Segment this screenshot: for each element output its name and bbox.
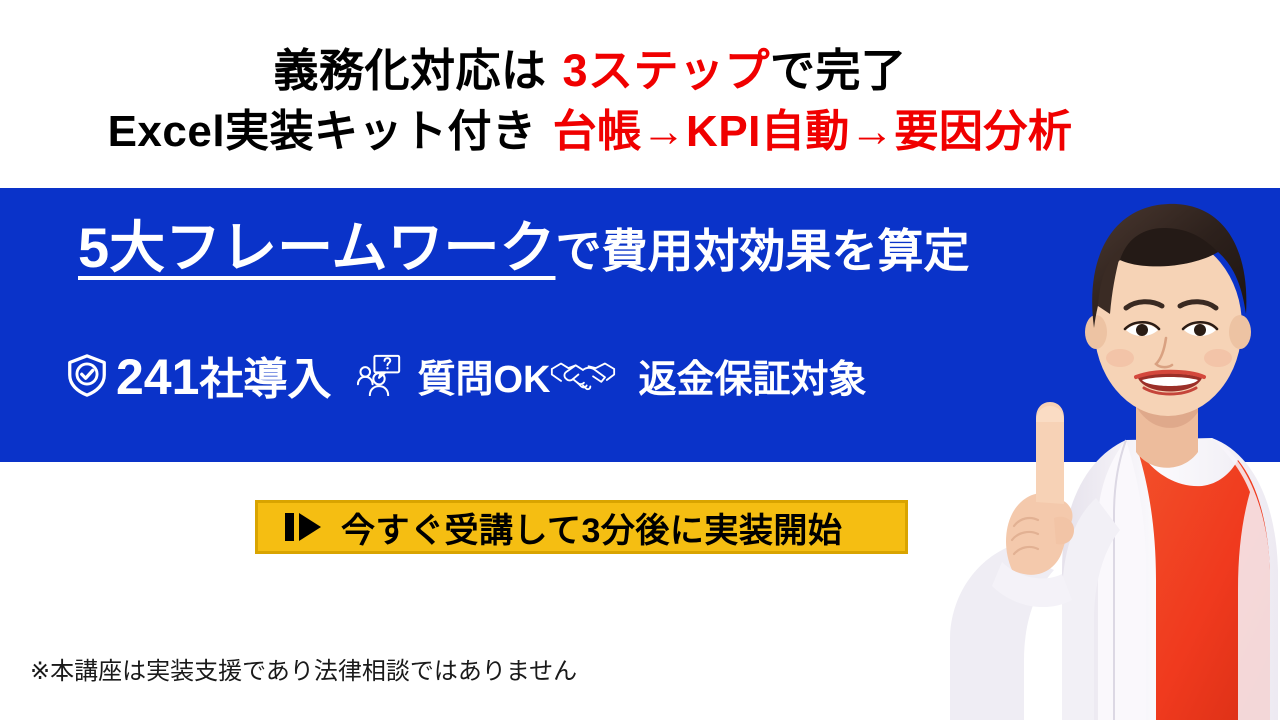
badge-companies-count: 241 bbox=[116, 349, 199, 405]
trust-badge-row: 241社導入 質問OK bbox=[64, 343, 866, 407]
cta-enroll-button[interactable]: 今すぐ受講して3分後に実装開始 bbox=[255, 500, 908, 554]
badge-companies: 241社導入 bbox=[64, 343, 331, 407]
badge-companies-label: 241社導入 bbox=[116, 343, 331, 407]
promo-banner: 義務化対応は3ステップで完了 Excel実装キット付き台帳→KPI自動→要因分析… bbox=[0, 0, 1280, 720]
badge-refund-label: 返金保証対象 bbox=[638, 348, 866, 403]
people-question-icon bbox=[357, 354, 401, 396]
badge-companies-suffix: 社導入 bbox=[199, 355, 331, 404]
headline-line1-part1: 義務化対応は bbox=[273, 45, 546, 96]
headline-line-2: Excel実装キット付き台帳→KPI自動→要因分析 bbox=[0, 105, 1180, 159]
cta-enroll-label: 今すぐ受講して3分後に実装開始 bbox=[341, 503, 842, 552]
badge-questions: 質問OK bbox=[357, 348, 550, 403]
shield-check-icon bbox=[64, 352, 110, 398]
headline-line2-part1: Excel実装キット付き bbox=[108, 107, 537, 156]
badge-questions-label: 質問OK bbox=[417, 348, 550, 403]
step-forward-play-icon bbox=[283, 511, 323, 543]
band-title: 5大フレームワークで費用対効果を算定 bbox=[78, 216, 969, 281]
band-title-plain: で費用対効果を算定 bbox=[555, 225, 969, 277]
headline-line-1: 義務化対応は3ステップで完了 bbox=[0, 44, 1180, 99]
headline-block: 義務化対応は3ステップで完了 Excel実装キット付き台帳→KPI自動→要因分析 bbox=[0, 44, 1180, 159]
headline-line2-highlight: 台帳→KPI自動→要因分析 bbox=[553, 107, 1073, 156]
handshake-icon bbox=[550, 358, 616, 392]
badge-refund: 返金保証対象 bbox=[550, 348, 866, 403]
band-title-underlined: 5大フレームワーク bbox=[78, 216, 555, 279]
disclaimer-text: ※本講座は実装支援であり法律相談ではありません bbox=[30, 651, 577, 686]
blue-highlight-band: 5大フレームワークで費用対効果を算定 241社導入 bbox=[0, 188, 1280, 462]
headline-line1-highlight: 3ステップ bbox=[562, 45, 770, 96]
headline-line1-part3: で完了 bbox=[770, 45, 907, 96]
